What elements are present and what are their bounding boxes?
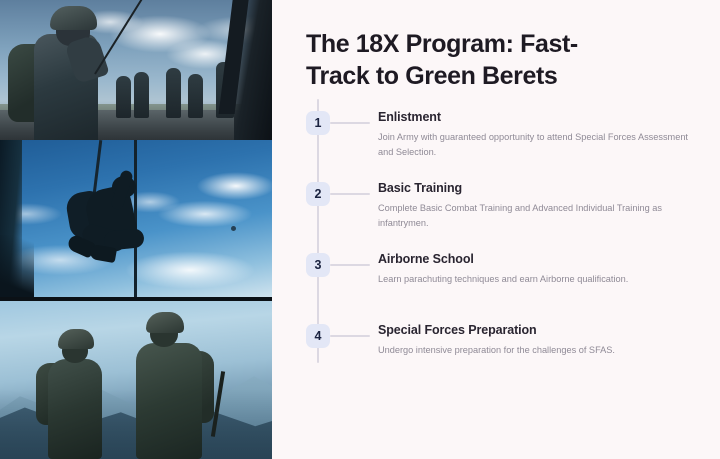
step-number-badge: 3 [306,253,330,277]
page-title: The 18X Program: Fast-Track to Green Ber… [306,28,636,92]
process-timeline: 1 Enlistment Join Army with guaranteed o… [306,110,690,375]
step-title: Airborne School [378,252,690,267]
foreground-soldier [8,8,126,140]
step-number-badge: 4 [306,324,330,348]
step-connector-line [330,264,370,266]
step-connector-line [330,122,370,124]
step-description: Join Army with guaranteed opportunity to… [378,130,690,160]
step-description: Undergo intensive preparation for the ch… [378,343,690,358]
photo-top-edge [0,297,272,301]
rappelling-soldier-silhouette [58,170,164,282]
distant-object [231,226,236,231]
step-content: Airborne School Learn parachuting techni… [370,252,690,287]
soldier-right [122,315,218,459]
step-description: Learn parachuting techniques and earn Ai… [378,272,690,287]
photo-fast-rope-silhouette [0,140,272,297]
timeline-step-4[interactable]: 4 Special Forces Preparation Undergo int… [306,323,690,375]
soldier-body [48,359,102,459]
step-title: Special Forces Preparation [378,323,690,338]
soldier-body [136,343,202,459]
step-content: Enlistment Join Army with guaranteed opp… [370,110,690,160]
timeline-step-2[interactable]: 2 Basic Training Complete Basic Combat T… [306,181,690,233]
combat-helmet [58,329,94,349]
photo-soldier-with-radio [0,0,272,140]
photo-gallery-column [0,0,272,459]
helicopter-door-frame-lower [0,235,34,297]
step-content: Special Forces Preparation Undergo inten… [370,323,690,358]
step-description: Complete Basic Combat Training and Advan… [378,201,690,231]
content-panel: The 18X Program: Fast-Track to Green Ber… [272,0,720,459]
combat-helmet [146,312,184,333]
soldier-pair [36,313,236,459]
timeline-step-1[interactable]: 1 Enlistment Join Army with guaranteed o… [306,110,690,162]
combat-helmet [50,6,97,30]
step-title: Basic Training [378,181,690,196]
step-connector-line [330,193,370,195]
step-content: Basic Training Complete Basic Combat Tra… [370,181,690,231]
step-number-badge: 1 [306,111,330,135]
step-title: Enlistment [378,110,690,125]
step-connector-line [330,335,370,337]
step-number-badge: 2 [306,182,330,206]
photo-soldiers-on-ridge [0,297,272,459]
timeline-step-3[interactable]: 3 Airborne School Learn parachuting tech… [306,252,690,304]
infographic-slide: The 18X Program: Fast-Track to Green Ber… [0,0,720,459]
soldier-boot-right [89,244,117,263]
soldier-left [36,331,114,459]
